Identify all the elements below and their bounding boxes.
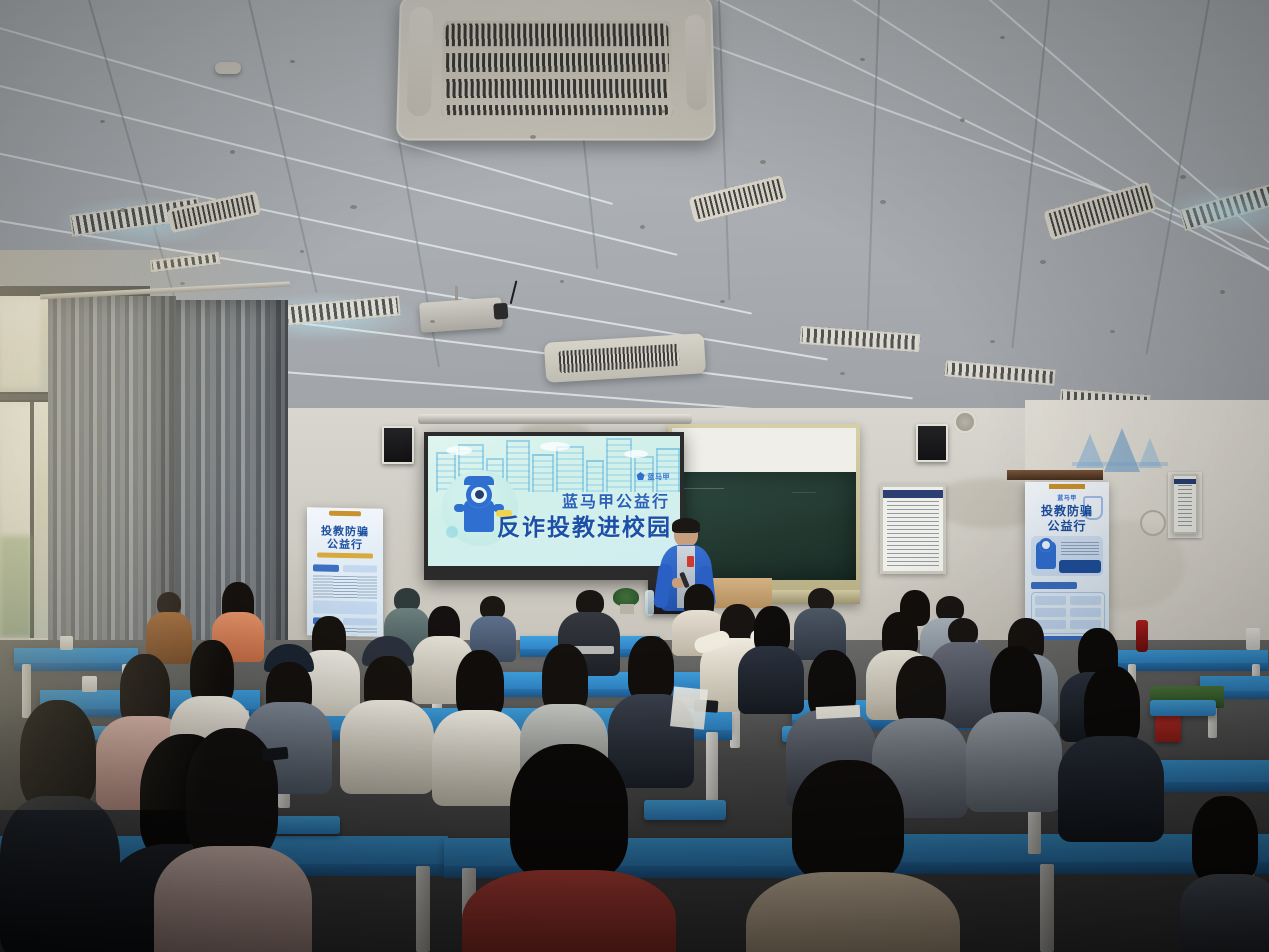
banner-left-title-2: 公益行 xyxy=(307,535,383,553)
desk-leg xyxy=(416,866,430,952)
blackboard-top-panel xyxy=(672,428,856,472)
student xyxy=(154,728,312,952)
student xyxy=(966,646,1062,808)
paper-sheet xyxy=(816,705,861,719)
projector-lens xyxy=(493,303,508,320)
classroom-photo: 投教防骗 公益行 蓝马甲 投教防骗 公益行 xyxy=(0,0,1269,952)
ceiling-air-vent xyxy=(544,333,706,383)
wall-exhaust-fan xyxy=(953,410,977,434)
window-outside-greenery xyxy=(0,536,32,636)
water-bottle xyxy=(1136,620,1148,652)
student xyxy=(340,636,434,790)
wall-speaker xyxy=(916,424,948,462)
projector-cable xyxy=(510,280,518,304)
slide-subhead: 反诈投教进校园 xyxy=(497,508,672,542)
presenter-glasses xyxy=(676,531,696,536)
door-frame xyxy=(1007,470,1103,480)
student xyxy=(1058,666,1164,838)
slide-logo-text: 蓝马甲 xyxy=(648,474,671,481)
student xyxy=(0,700,120,952)
projection-screen: 蓝马甲 蓝马甲公益行 反诈投教进校园 xyxy=(424,432,684,580)
student xyxy=(746,760,960,952)
plant-pot xyxy=(620,604,634,614)
screen-roller xyxy=(418,414,692,424)
wall-notice-frame xyxy=(880,484,946,574)
hanging-wall-ornament xyxy=(1140,510,1166,536)
desk-leg xyxy=(1040,864,1054,952)
paper-cup xyxy=(60,636,73,650)
wall-notice-frame xyxy=(1172,474,1198,534)
ceiling-light-panel xyxy=(945,360,1056,386)
student-desk xyxy=(1118,650,1268,664)
slide-content: 蓝马甲 蓝马甲公益行 反诈投教进校园 xyxy=(428,436,680,566)
ceiling-air-conditioner xyxy=(396,0,716,141)
ceiling-light-panel xyxy=(800,326,921,352)
slide-logo: 蓝马甲 xyxy=(637,472,671,482)
ceiling-air-vent xyxy=(1043,181,1157,240)
smoke-detector xyxy=(215,62,241,74)
ceiling-air-vent xyxy=(688,175,787,223)
presenter-badge xyxy=(687,556,694,567)
blue-vest-logo-icon xyxy=(637,472,645,480)
ceiling-projector xyxy=(419,297,503,333)
blue-tree-wall-decal xyxy=(1070,428,1170,474)
student xyxy=(462,744,676,952)
desk-leg xyxy=(706,732,718,808)
paper-sheet xyxy=(670,686,708,729)
wall-speaker xyxy=(382,426,414,464)
student xyxy=(1180,796,1269,952)
banner-right-logo: 蓝马甲 xyxy=(1057,493,1077,502)
water-bottle xyxy=(645,590,654,616)
paper-cup xyxy=(1246,628,1260,650)
paper-cup xyxy=(82,676,97,692)
